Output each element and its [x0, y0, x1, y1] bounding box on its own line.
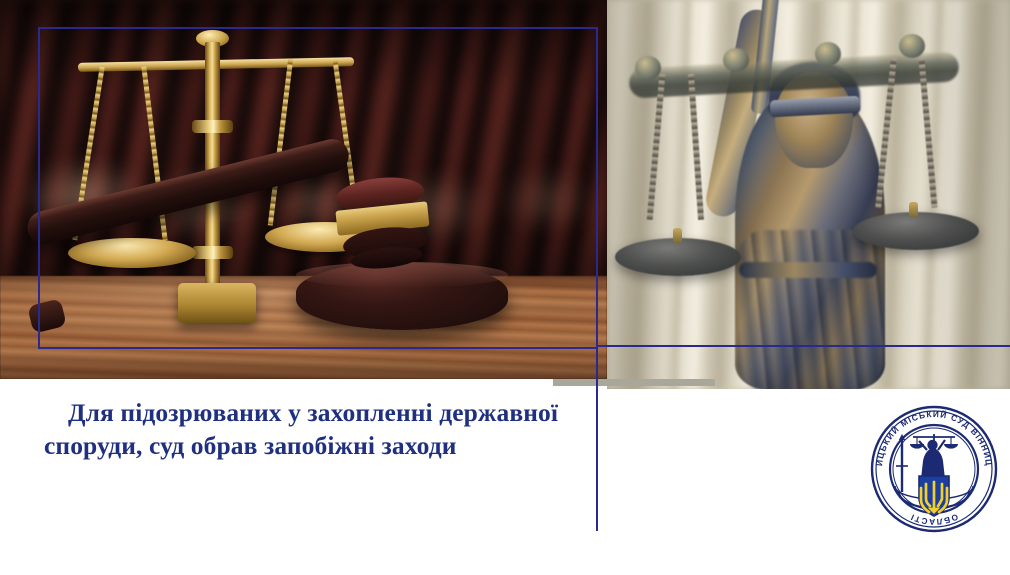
- frame-horizontal-rule: [596, 345, 1010, 347]
- frame-line-right: [596, 27, 598, 349]
- scale-base-block: [178, 283, 256, 323]
- scale-collar-upper: [192, 120, 233, 133]
- frame-line-left: [38, 27, 40, 349]
- scale-collar-lower: [192, 246, 233, 259]
- frame-vertical-drop: [596, 347, 598, 531]
- gavel-scales-photo: [0, 0, 607, 379]
- statue-scale-pan-left: [615, 238, 741, 276]
- statue-sash: [739, 262, 877, 278]
- ukrainian-trident: [921, 482, 947, 512]
- statue-robe-folds: [737, 230, 883, 389]
- headline-text: Для підозрюваних у захопленні державної …: [44, 396, 584, 462]
- frame-line-bottom: [38, 347, 598, 349]
- gavel-head: [330, 173, 435, 275]
- statue-pan-stem: [909, 202, 918, 217]
- scale-beam-ornament: [899, 34, 925, 58]
- photo-step-band: [553, 379, 715, 386]
- poster-canvas: Для підозрюваних у захопленні державної …: [0, 0, 1010, 575]
- lady-justice-photo: [607, 0, 1010, 389]
- scale-beam-ornament: [635, 56, 661, 80]
- scale-beam-ornament: [815, 42, 841, 66]
- scale-beam-ornament: [723, 48, 749, 72]
- court-seal-emblem: ВІННИЦЬКИЙ МІСЬКИЙ СУД ВІННИЦЬКОЇ ОБЛАСТ…: [869, 404, 999, 534]
- statue-pan-stem: [673, 228, 682, 243]
- scale-pan-left: [68, 238, 196, 268]
- statue-scale-pan-right: [853, 212, 979, 250]
- frame-line-top: [38, 27, 598, 29]
